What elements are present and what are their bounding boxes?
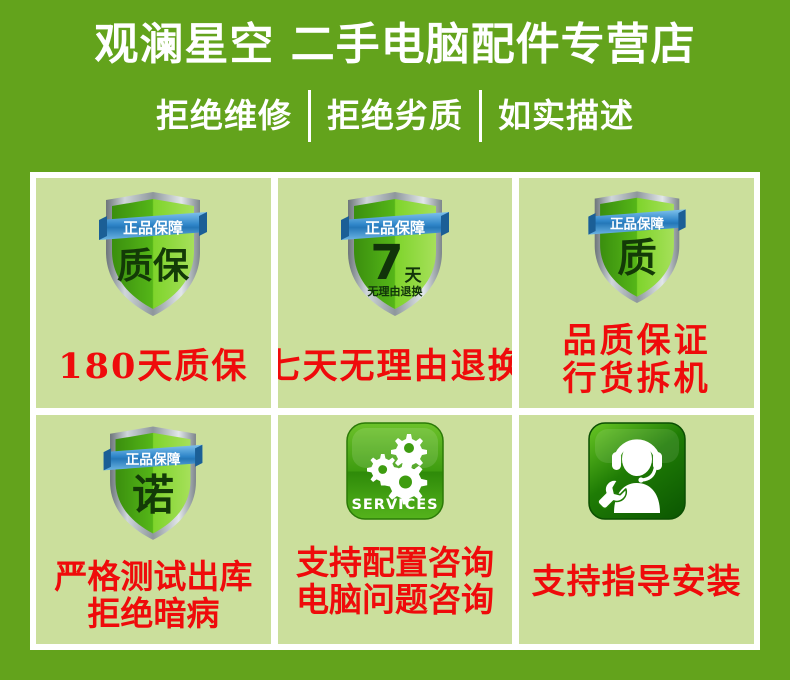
shield-center-text: 质保: [117, 246, 190, 287]
feature-card-install-guide[interactable]: 支持指导安装: [519, 415, 754, 645]
feature-card-caption: 180天质保: [36, 326, 271, 408]
feature-card-caption: 支持指导安装: [519, 521, 754, 645]
shield-badge-icon: 正品保障 质保: [93, 178, 213, 326]
feature-card-config-consult[interactable]: SERVICES 支持配置咨询 电脑问题咨询: [278, 415, 513, 645]
feature-card-caption: 品质保证 行货拆机: [519, 312, 754, 408]
feature-card-caption: 七天无理由退换: [278, 326, 513, 408]
slogan-item-1: 拒绝维修: [140, 96, 308, 136]
shield-promise-icon: 正品保障 诺: [98, 415, 208, 549]
caption-line: 严格测试出库: [54, 559, 252, 596]
feature-card-warranty-180[interactable]: 正品保障 质保 180天质保: [36, 178, 271, 408]
feature-card-strict-testing[interactable]: 正品保障 诺 严格测试出库 拒绝暗病: [36, 415, 271, 645]
caption-line: 行货拆机: [563, 360, 711, 398]
promo-banner: 观澜星空 二手电脑配件专营店 拒绝维修 拒绝劣质 如实描述: [0, 0, 790, 680]
feature-card-caption: 严格测试出库 拒绝暗病: [36, 549, 271, 645]
shield-quality-icon: 正品保障 质: [583, 178, 691, 312]
support-headset-wrench-icon: [587, 415, 687, 521]
feature-card-7day-return[interactable]: 正品保障 7 天 无理由退换 七天无理由退换: [278, 178, 513, 408]
banner-header: 观澜星空 二手电脑配件专营店 拒绝维修 拒绝劣质 如实描述: [0, 0, 790, 142]
slogan-row: 拒绝维修 拒绝劣质 如实描述: [0, 90, 790, 142]
caption-line: 180天质保: [58, 348, 248, 386]
shield-center-text: 质: [617, 236, 657, 282]
shop-title: 观澜星空 二手电脑配件专营店: [0, 16, 790, 74]
shield-ribbon-text: 正品保障: [126, 450, 181, 467]
slogan-item-3: 如实描述: [482, 96, 650, 136]
caption-line: 支持配置咨询: [296, 545, 494, 582]
caption-line: 品质保证: [563, 322, 711, 360]
shield-big-number: 7: [370, 235, 403, 291]
caption-line: 支持指导安装: [532, 563, 742, 601]
feature-grid: 正品保障 质保 180天质保: [30, 172, 760, 650]
tile-label: SERVICES: [351, 497, 438, 513]
feature-card-quality-assured[interactable]: 正品保障 质 品质保证 行货拆机: [519, 178, 754, 408]
feature-card-caption: 支持配置咨询 电脑问题咨询: [278, 521, 513, 645]
shield-center-text: 诺: [132, 470, 174, 519]
shield-big-unit: 天: [405, 266, 423, 286]
caption-line: 拒绝暗病: [87, 596, 219, 633]
caption-line: 电脑问题咨询: [296, 582, 494, 619]
caption-line: 七天无理由退换: [278, 348, 513, 386]
shield-ribbon-text: 正品保障: [123, 219, 183, 237]
feature-grid-row-1: 正品保障 质保 180天质保: [36, 178, 754, 408]
feature-grid-row-2: 正品保障 诺 严格测试出库 拒绝暗病: [36, 415, 754, 645]
gears-services-icon: SERVICES: [345, 415, 445, 521]
shield-sub-text: 无理由退换: [367, 284, 424, 298]
shield-7day-icon: 正品保障 7 天 无理由退换: [335, 178, 455, 326]
shield-ribbon-text: 正品保障: [610, 215, 664, 232]
slogan-item-2: 拒绝劣质: [311, 96, 479, 136]
